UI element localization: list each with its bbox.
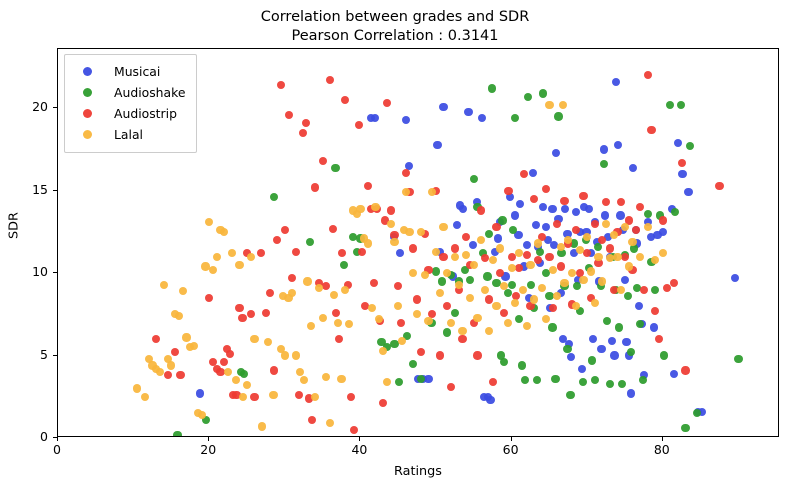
scatter-point — [258, 422, 266, 430]
scatter-point — [266, 289, 274, 297]
scatter-point — [394, 302, 402, 310]
scatter-point — [636, 203, 644, 211]
scatter-point — [319, 314, 327, 322]
scatter-point — [332, 309, 340, 317]
legend-marker-icon — [83, 67, 92, 76]
scatter-point — [409, 269, 417, 277]
scatter-point — [548, 205, 556, 213]
scatter-point — [655, 335, 663, 343]
scatter-point — [603, 317, 611, 325]
legend-item[interactable]: Musicai — [74, 61, 185, 82]
scatter-point — [606, 244, 614, 252]
scatter-point — [447, 383, 455, 391]
legend-marker-icon — [83, 130, 92, 139]
scatter-point — [232, 376, 240, 384]
legend-item-label: Audiostrip — [114, 106, 177, 121]
page-title: Correlation between grades and SDR — [0, 8, 790, 27]
scatter-point — [660, 351, 668, 359]
scatter-point — [594, 253, 602, 261]
scatter-point — [356, 205, 364, 213]
scatter-point — [640, 286, 648, 294]
scatter-point — [639, 376, 647, 384]
scatter-point — [559, 101, 567, 109]
scatter-point — [220, 228, 228, 236]
scatter-point — [477, 206, 485, 214]
scatter-point — [583, 233, 591, 241]
scatter-point — [409, 244, 417, 252]
scatter-point — [262, 309, 270, 317]
scatter-point — [173, 431, 181, 436]
y-tick-mark — [53, 107, 57, 108]
scatter-point — [436, 289, 444, 297]
scatter-point — [205, 294, 213, 302]
scatter-point — [379, 347, 387, 355]
scatter-point — [500, 358, 508, 366]
scatter-point — [591, 299, 599, 307]
scatter-point — [368, 304, 376, 312]
scatter-point — [331, 164, 339, 172]
scatter-point — [485, 327, 493, 335]
scatter-point — [213, 253, 221, 261]
scatter-point — [421, 271, 429, 279]
scatter-point — [220, 358, 228, 366]
scatter-point — [539, 203, 547, 211]
scatter-point — [247, 253, 255, 261]
scatter-point — [319, 157, 327, 165]
legend-item[interactable]: Audioshake — [74, 82, 185, 103]
scatter-point — [542, 223, 550, 231]
scatter-point — [504, 187, 512, 195]
scatter-point — [617, 286, 625, 294]
scatter-point — [269, 391, 277, 399]
scatter-point — [152, 335, 160, 343]
scatter-point — [439, 223, 447, 231]
scatter-point — [288, 274, 296, 282]
scatter-point — [205, 218, 213, 226]
chart-subtitle: Pearson Correlation : 0.3141 — [0, 27, 790, 46]
scatter-point — [453, 221, 461, 229]
scatter-point — [488, 84, 496, 92]
chart-legend: MusicaiAudioshakeAudiostripLalal — [64, 54, 197, 153]
scatter-point — [534, 239, 542, 247]
scatter-point — [511, 211, 519, 219]
scatter-point — [608, 337, 616, 345]
scatter-point — [545, 101, 553, 109]
scatter-point — [629, 164, 637, 172]
x-tick-label: 20 — [178, 442, 238, 457]
scatter-point — [644, 210, 652, 218]
scatter-point — [542, 185, 550, 193]
scatter-point — [308, 416, 316, 424]
scatter-point — [542, 315, 550, 323]
scatter-point — [432, 267, 440, 275]
scatter-point — [515, 264, 523, 272]
scatter-point — [341, 286, 349, 294]
scatter-point — [473, 351, 481, 359]
legend-item-label: Lalal — [114, 127, 143, 142]
scatter-point — [413, 295, 421, 303]
scatter-point — [651, 256, 659, 264]
scatter-point — [579, 276, 587, 284]
scatter-point — [311, 393, 319, 401]
scatter-point — [734, 355, 742, 363]
scatter-point — [628, 238, 636, 246]
scatter-point — [340, 261, 348, 269]
scatter-point — [492, 302, 500, 310]
scatter-point — [627, 348, 635, 356]
scatter-point — [627, 389, 635, 397]
scatter-point — [589, 335, 597, 343]
scatter-point — [602, 198, 610, 206]
scatter-point — [518, 361, 526, 369]
scatter-point — [670, 370, 678, 378]
scatter-point — [417, 375, 425, 383]
scatter-point — [171, 348, 179, 356]
scatter-point — [678, 159, 686, 167]
scatter-point — [239, 393, 247, 401]
scatter-point — [395, 378, 403, 386]
x-axis-label: Ratings — [57, 464, 779, 479]
scatter-point — [397, 319, 405, 327]
scatter-point — [659, 228, 667, 236]
scatter-point — [240, 370, 248, 378]
scatter-point — [341, 96, 349, 104]
scatter-point — [355, 121, 363, 129]
scatter-point — [523, 251, 531, 259]
scatter-point — [681, 366, 689, 374]
scatter-point — [622, 338, 630, 346]
scatter-point — [190, 342, 198, 350]
scatter-point — [394, 282, 402, 290]
y-tick-mark — [53, 355, 57, 356]
legend-marker-icon — [83, 109, 92, 118]
scatter-point — [292, 351, 300, 359]
scatter-point — [606, 380, 614, 388]
scatter-point — [299, 129, 307, 137]
scatter-point — [650, 323, 658, 331]
scatter-point — [250, 335, 258, 343]
scatter-point — [567, 353, 575, 361]
scatter-point — [462, 251, 470, 259]
scatter-point — [647, 126, 655, 134]
scatter-point — [451, 244, 459, 252]
scatter-point — [602, 220, 610, 228]
x-tick-label: 40 — [329, 442, 389, 457]
scatter-point — [494, 234, 502, 242]
scatter-point — [345, 320, 353, 328]
scatter-point — [670, 279, 678, 287]
scatter-point — [326, 419, 334, 427]
x-tick-label: 0 — [27, 442, 87, 457]
scatter-point — [666, 101, 674, 109]
scatter-point — [133, 384, 141, 392]
scatter-point — [573, 282, 581, 290]
scatter-point — [563, 345, 571, 353]
scatter-point — [554, 112, 562, 120]
scatter-point — [617, 198, 625, 206]
scatter-point — [504, 319, 512, 327]
scatter-point — [485, 230, 493, 238]
scatter-point — [530, 295, 538, 303]
y-tick-mark — [53, 190, 57, 191]
scatter-point — [439, 103, 447, 111]
scatter-point — [383, 99, 391, 107]
scatter-point — [552, 149, 560, 157]
scatter-point — [478, 114, 486, 122]
scatter-point — [693, 409, 701, 417]
scatter-point — [530, 195, 538, 203]
scatter-point — [417, 348, 425, 356]
scatter-point — [257, 249, 265, 257]
scatter-point — [610, 231, 618, 239]
scatter-point — [466, 276, 474, 284]
scatter-point — [597, 345, 605, 353]
scatter-point — [364, 182, 372, 190]
y-tick-label: 5 — [0, 347, 48, 362]
scatter-point — [451, 309, 459, 317]
scatter-point — [470, 175, 478, 183]
scatter-point — [439, 253, 447, 261]
scatter-point — [438, 277, 446, 285]
scatter-point — [549, 304, 557, 312]
scatter-point — [483, 272, 491, 280]
scatter-point — [539, 89, 547, 97]
scatter-point — [247, 310, 255, 318]
scatter-point — [621, 253, 629, 261]
scatter-point — [432, 248, 440, 256]
scatter-point — [156, 368, 164, 376]
scatter-point — [621, 276, 629, 284]
scatter-point — [462, 233, 470, 241]
scatter-point — [383, 378, 391, 386]
scatter-point — [553, 292, 561, 300]
y-tick-label: 20 — [0, 99, 48, 114]
scatter-point — [350, 426, 358, 434]
scatter-point — [624, 292, 632, 300]
x-tick-label: 80 — [632, 442, 692, 457]
scatter-point — [545, 253, 553, 261]
scatter-point — [243, 381, 251, 389]
scatter-point — [659, 216, 667, 224]
scatter-point — [508, 281, 516, 289]
scatter-point — [516, 200, 524, 208]
scatter-point — [616, 211, 624, 219]
scatter-point — [398, 337, 406, 345]
scatter-point — [515, 315, 523, 323]
scatter-point — [527, 281, 535, 289]
scatter-point — [443, 328, 451, 336]
scatter-point — [529, 169, 537, 177]
scatter-point — [572, 208, 580, 216]
scatter-point — [614, 141, 622, 149]
scatter-point — [473, 314, 481, 322]
scatter-point — [651, 286, 659, 294]
scatter-point — [409, 360, 417, 368]
scatter-point — [288, 289, 296, 297]
legend-item-label: Musicai — [114, 64, 160, 79]
scatter-point — [674, 139, 682, 147]
scatter-point — [235, 261, 243, 269]
scatter-point — [663, 284, 671, 292]
scatter-point — [557, 243, 565, 251]
scatter-point — [387, 206, 395, 214]
scatter-point — [635, 302, 643, 310]
scatter-chart-figure: Correlation between grades and SDR Pears… — [0, 0, 790, 489]
scatter-point — [458, 335, 466, 343]
scatter-point — [322, 282, 330, 290]
scatter-point — [228, 249, 236, 257]
scatter-point — [500, 309, 508, 317]
scatter-point — [443, 302, 451, 310]
scatter-point — [600, 160, 608, 168]
scatter-point — [551, 375, 559, 383]
scatter-point — [371, 203, 379, 211]
scatter-point — [296, 368, 304, 376]
scatter-point — [281, 351, 289, 359]
scatter-point — [548, 323, 556, 331]
x-tick-mark — [208, 437, 209, 441]
scatter-point — [458, 327, 466, 335]
scatter-point — [306, 238, 314, 246]
scatter-point — [402, 116, 410, 124]
scatter-point — [588, 356, 596, 364]
scatter-point — [417, 228, 425, 236]
scatter-point — [302, 119, 310, 127]
scatter-point — [469, 241, 477, 249]
scatter-point — [330, 291, 338, 299]
scatter-point — [303, 277, 311, 285]
legend-item[interactable]: Lalal — [74, 124, 185, 145]
scatter-point — [447, 319, 455, 327]
scatter-point — [402, 169, 410, 177]
scatter-point — [182, 333, 190, 341]
scatter-point — [533, 376, 541, 384]
scatter-point — [560, 197, 568, 205]
scatter-point — [591, 376, 599, 384]
scatter-point — [489, 378, 497, 386]
scatter-point — [285, 111, 293, 119]
scatter-point — [560, 279, 568, 287]
scatter-point — [277, 81, 285, 89]
scatter-point — [671, 208, 679, 216]
scatter-point — [686, 142, 694, 150]
scatter-point — [549, 266, 557, 274]
scatter-point — [335, 335, 343, 343]
scatter-point — [226, 350, 234, 358]
scatter-point — [587, 267, 595, 275]
scatter-point — [521, 376, 529, 384]
scatter-point — [579, 378, 587, 386]
scatter-point — [179, 287, 187, 295]
scatter-point — [496, 244, 504, 252]
scatter-point — [504, 289, 512, 297]
scatter-point — [625, 262, 633, 270]
scatter-point — [396, 249, 404, 257]
scatter-point — [459, 205, 467, 213]
scatter-point — [508, 264, 516, 272]
scatter-point — [175, 312, 183, 320]
scatter-point — [270, 366, 278, 374]
scatter-point — [636, 253, 644, 261]
scatter-point — [141, 393, 149, 401]
legend-item[interactable]: Audiostrip — [74, 103, 185, 124]
scatter-point — [337, 375, 345, 383]
scatter-point — [523, 322, 531, 330]
scatter-point — [610, 351, 618, 359]
scatter-point — [307, 322, 315, 330]
scatter-point — [621, 223, 629, 231]
x-tick-mark — [511, 437, 512, 441]
scatter-point — [585, 205, 593, 213]
scatter-point — [464, 108, 472, 116]
y-tick-label: 10 — [0, 264, 48, 279]
scatter-point — [387, 220, 395, 228]
scatter-point — [238, 314, 246, 322]
scatter-point — [632, 226, 640, 234]
y-tick-label: 0 — [0, 429, 48, 444]
scatter-point — [578, 365, 586, 373]
scatter-point — [470, 261, 478, 269]
scatter-point — [481, 286, 489, 294]
scatter-point — [523, 241, 531, 249]
scatter-point — [579, 192, 587, 200]
scatter-point — [524, 93, 532, 101]
scatter-point — [561, 205, 569, 213]
scatter-point — [436, 351, 444, 359]
scatter-point — [428, 188, 436, 196]
scatter-point — [598, 277, 606, 285]
scatter-point — [164, 371, 172, 379]
scatter-point — [198, 411, 206, 419]
scatter-point — [379, 399, 387, 407]
scatter-point — [235, 304, 243, 312]
y-tick-mark — [53, 272, 57, 273]
scatter-point — [511, 114, 519, 122]
x-tick-mark — [359, 437, 360, 441]
scatter-point — [651, 307, 659, 315]
scatter-point — [370, 279, 378, 287]
scatter-point — [553, 220, 561, 228]
scatter-point — [715, 182, 723, 190]
scatter-point — [566, 391, 574, 399]
scatter-point — [295, 391, 303, 399]
scatter-point — [413, 310, 421, 318]
scatter-point — [364, 239, 372, 247]
x-tick-mark — [662, 437, 663, 441]
scatter-point — [526, 261, 534, 269]
scatter-point — [538, 284, 546, 292]
scatter-point — [601, 211, 609, 219]
x-tick-label: 60 — [481, 442, 541, 457]
scatter-point — [557, 262, 565, 270]
scatter-point — [466, 294, 474, 302]
scatter-point — [371, 114, 379, 122]
scatter-point — [511, 299, 519, 307]
scatter-point — [659, 249, 667, 257]
scatter-point — [326, 76, 334, 84]
scatter-point — [519, 286, 527, 294]
scatter-point — [598, 236, 606, 244]
scatter-point — [451, 253, 459, 261]
scatter-point — [167, 361, 175, 369]
legend-item-label: Audioshake — [114, 85, 185, 100]
scatter-point — [684, 188, 692, 196]
scatter-point — [576, 246, 584, 254]
scatter-point — [176, 371, 184, 379]
scatter-point — [196, 389, 204, 397]
scatter-point — [281, 226, 289, 234]
scatter-point — [292, 248, 300, 256]
